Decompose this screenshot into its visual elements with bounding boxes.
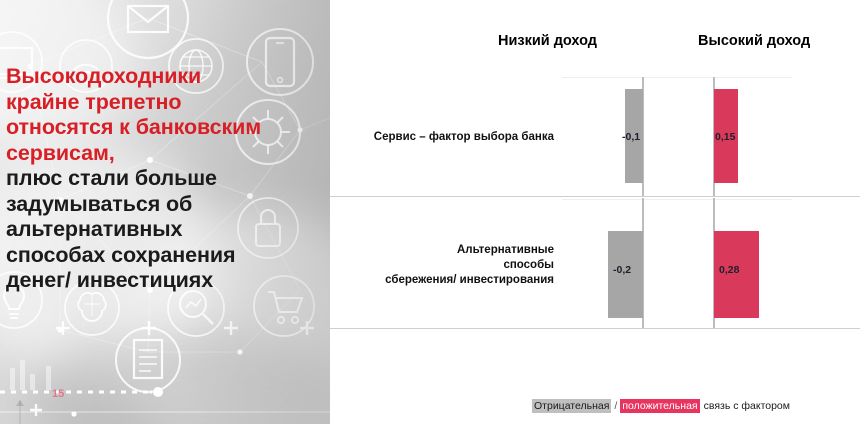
headline-line-red-1: Высокодоходники xyxy=(6,64,330,90)
chart-legend: Отрицательная/положительнаясвязь с факто… xyxy=(532,400,790,412)
legend-separator: / xyxy=(611,400,620,412)
slide-headline: Высокодоходники крайне трепетно относятс… xyxy=(6,64,330,294)
plot-top-rule xyxy=(562,199,792,200)
row-label-line-1: Альтернативные xyxy=(457,244,554,256)
row-label-line-3: сбережения/ инвестирования xyxy=(385,274,554,286)
row-separator xyxy=(330,196,860,197)
page-number: 15 xyxy=(52,388,64,400)
row-label-alternative-savings: Альтернативные способы сбережения/ инвес… xyxy=(330,243,562,288)
headline-line-black-5: денег/ инвестициях xyxy=(6,268,330,294)
bar-value-high-row-2: 0,28 xyxy=(719,264,739,276)
legend-tail-text: связь с фактором xyxy=(700,400,790,412)
chart-panel: Низкий доход Высокий доход Сервис – факт… xyxy=(330,0,860,424)
row-label-service-factor: Сервис – фактор выбора банка xyxy=(330,130,562,145)
headline-line-black-2: задумываться об xyxy=(6,192,330,218)
bar-value-low-row-1: -0,1 xyxy=(622,131,640,143)
headline-line-black-3: альтернативных xyxy=(6,217,330,243)
left-title-panel: Высокодоходники крайне трепетно относятс… xyxy=(0,0,330,424)
headline-line-black-4: способах сохранения xyxy=(6,243,330,269)
legend-chip-positive: положительная xyxy=(620,399,699,413)
row-label-line-2: способы xyxy=(503,259,554,271)
headline-line-red-3: относятся к банковским xyxy=(6,115,330,141)
column-header-low-income: Низкий доход xyxy=(498,33,597,49)
row-separator xyxy=(330,328,860,329)
headline-line-red-2: крайне трепетно xyxy=(6,90,330,116)
bar-value-low-row-2: -0,2 xyxy=(613,264,631,276)
headline-line-black-1: плюс стали больше xyxy=(6,166,330,192)
slide-canvas: Высокодоходники крайне трепетно относятс… xyxy=(0,0,860,424)
bar-value-high-row-1: 0,15 xyxy=(715,131,735,143)
plot-top-rule xyxy=(562,77,792,78)
column-header-high-income: Высокий доход xyxy=(698,33,810,49)
legend-chip-negative: Отрицательная xyxy=(532,399,611,413)
headline-line-red-4: сервисам, xyxy=(6,141,330,167)
